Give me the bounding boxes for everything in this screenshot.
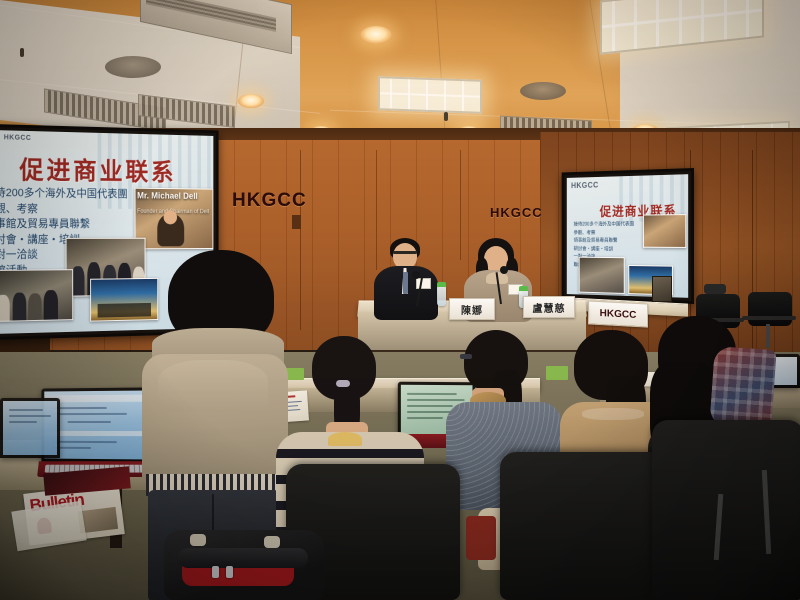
bottle-cap xyxy=(437,282,446,287)
air-vent xyxy=(520,82,566,100)
sprinkler-head xyxy=(444,112,448,121)
speaker-name-card-right: 盧慧慈 xyxy=(523,296,575,318)
slide-photo-dell-portrait xyxy=(643,214,686,248)
speaker-left xyxy=(372,238,442,318)
laptop-center-left-display xyxy=(3,401,57,455)
slide-title-left: 促进商业联系 xyxy=(19,151,176,189)
laptop-left-display xyxy=(44,390,149,459)
photo-figure xyxy=(12,292,26,320)
slide-photo-dell-portrait: Mr. Michael Dell Founder and Chairman of… xyxy=(135,188,214,250)
hood-fold xyxy=(158,360,268,412)
backpack-strap xyxy=(190,534,206,546)
slide-photo-caption-1: Mr. Michael Dell xyxy=(137,191,198,201)
zipper-pull xyxy=(226,566,233,578)
wall-logo-left-text: HKGCC xyxy=(232,190,307,211)
slide-photo-delegation xyxy=(579,257,625,294)
eyeglasses xyxy=(460,354,472,359)
backpack xyxy=(164,530,324,600)
laptop-center-left[interactable] xyxy=(0,398,60,458)
wall-frame xyxy=(652,276,672,302)
backpack-strap xyxy=(264,536,280,548)
hkgcc-table-card: HKGCC xyxy=(588,300,648,327)
water-bottle xyxy=(437,286,446,306)
hair-clip xyxy=(336,380,350,387)
slide-bullet: 接待200多个海外及中国代表團 xyxy=(574,220,634,228)
zipper-pull xyxy=(212,566,219,578)
speaker-name-card-left: 陳娜 xyxy=(449,298,495,320)
recessed-downlight xyxy=(238,94,264,108)
backpack-flap xyxy=(178,548,308,568)
slide-bullet: 參觀、考察 xyxy=(0,202,128,218)
slide-bullet: 領事館及貿易專員聯繫 xyxy=(0,217,128,233)
photo-figure xyxy=(71,266,84,295)
microphone-head xyxy=(500,266,508,274)
wall-logo-right: HKGCC xyxy=(490,205,543,220)
bottle-cap xyxy=(519,286,528,291)
ceiling xyxy=(0,0,800,135)
plaid-jacket-on-chair xyxy=(709,346,776,430)
slide-bullet: 領事館及貿易專員聯繫 xyxy=(574,237,634,245)
recessed-downlight xyxy=(360,26,392,44)
wall-fixture xyxy=(292,215,301,229)
photo-figure xyxy=(28,293,42,320)
projection-screen-right: HKGCC 促进商业联系 接待200多个海外及中国代表團 參觀、考察 領事館及貿… xyxy=(562,168,694,304)
wall-seam xyxy=(300,150,301,330)
slide-bullet: 參觀、考察 xyxy=(574,229,634,237)
inner-collar xyxy=(328,432,362,446)
louvered-ceiling-light xyxy=(378,76,482,114)
jacket-collar xyxy=(582,408,644,420)
sprinkler-head xyxy=(20,48,24,57)
slide-photo-visit xyxy=(0,269,73,322)
slide-logo-right: HKGCC xyxy=(571,181,599,190)
photo-figure xyxy=(0,295,10,321)
conference-room-photo: HKGCC HKGCC 促进商业联系 接待200多个海外及中国代表團 參觀、考察… xyxy=(0,0,800,600)
wall-logo-left: HKGCC xyxy=(232,190,307,212)
red-chair-seat xyxy=(466,516,496,560)
air-vent xyxy=(105,56,161,78)
microphone-head xyxy=(412,271,420,279)
photo-figure xyxy=(44,290,58,320)
eyeglasses xyxy=(393,251,417,254)
conference-chair-right-edge xyxy=(652,420,800,600)
necktie xyxy=(403,272,408,294)
slide-logo-left: HKGCC xyxy=(4,134,31,142)
chair-headrest xyxy=(704,284,726,294)
slide-bullet: 接待200多个海外及中国代表團 xyxy=(0,186,128,203)
wall-logo-right-text: HKGCC xyxy=(490,205,543,220)
